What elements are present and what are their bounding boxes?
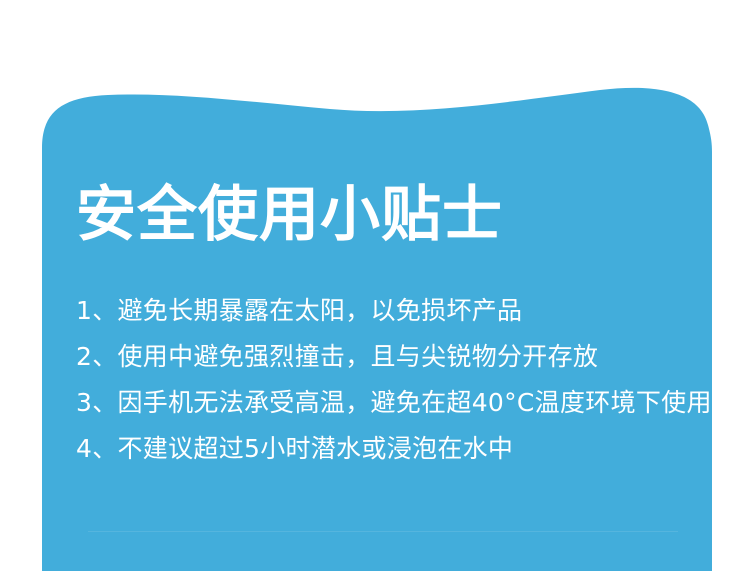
- page-title: 安全使用小贴士: [76, 182, 503, 249]
- list-item: 4、不建议超过5小时潜水或浸泡在水中: [76, 426, 712, 472]
- safety-tips-list: 1、避免长期暴露在太阳，以免损坏产品 2、使用中避免强烈撞击，且与尖锐物分开存放…: [76, 288, 712, 472]
- panel-seam-divider: [88, 531, 678, 532]
- list-item: 3、因手机无法承受高温，避免在超40°C温度环境下使用: [76, 380, 712, 426]
- banner-content: 安全使用小贴士 1、避免长期暴露在太阳，以免损坏产品 2、使用中避免强烈撞击，且…: [0, 0, 750, 571]
- list-item: 2、使用中避免强烈撞击，且与尖锐物分开存放: [76, 334, 712, 380]
- list-item: 1、避免长期暴露在太阳，以免损坏产品: [76, 288, 712, 334]
- safety-tips-banner: 安全使用小贴士 1、避免长期暴露在太阳，以免损坏产品 2、使用中避免强烈撞击，且…: [0, 0, 750, 571]
